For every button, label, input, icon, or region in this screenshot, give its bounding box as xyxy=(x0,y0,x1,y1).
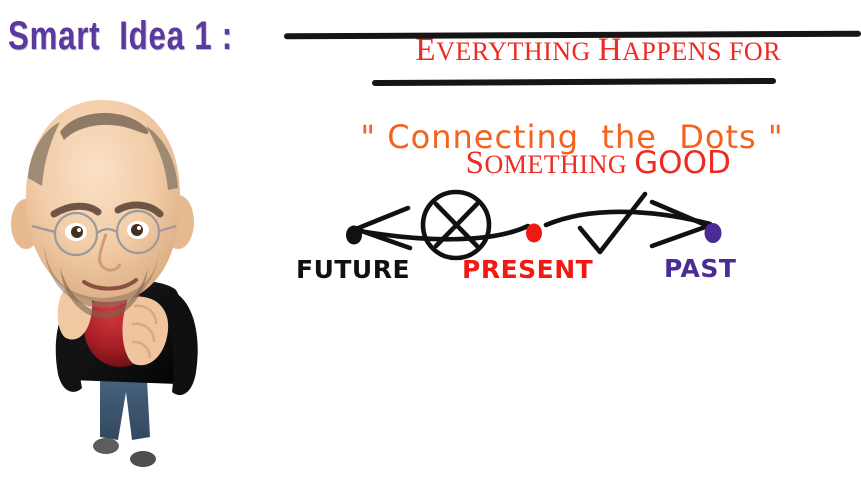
timeline-label-present: PRESENT xyxy=(462,255,593,284)
page-title: Smart Idea 1 : xyxy=(8,14,233,59)
slide-canvas: Smart Idea 1 : EVERYTHING HAPPENS FOR SO… xyxy=(0,0,861,482)
subtitle: " Connecting the Dots " xyxy=(283,118,861,156)
eye-left xyxy=(71,226,83,238)
dot-present xyxy=(526,224,542,243)
shoe-left xyxy=(93,438,119,454)
timeline-label-past: PAST xyxy=(664,254,736,283)
headline-line-1-part-4: APPENS FOR xyxy=(622,37,781,66)
check-icon xyxy=(580,194,645,252)
dot-future xyxy=(346,226,362,245)
eye-right xyxy=(131,224,143,236)
arrow-head-left xyxy=(356,208,410,248)
headline-line-1-part-2: VERYTHING xyxy=(436,37,598,66)
arrow-head-right xyxy=(652,202,708,246)
headline-line-1: EVERYTHING HAPPENS FOR xyxy=(283,0,861,101)
shoe-right xyxy=(130,451,156,467)
dot-past xyxy=(705,223,722,243)
steve-jobs-caricature xyxy=(0,92,245,482)
timeline-label-future: FUTURE xyxy=(296,255,410,284)
